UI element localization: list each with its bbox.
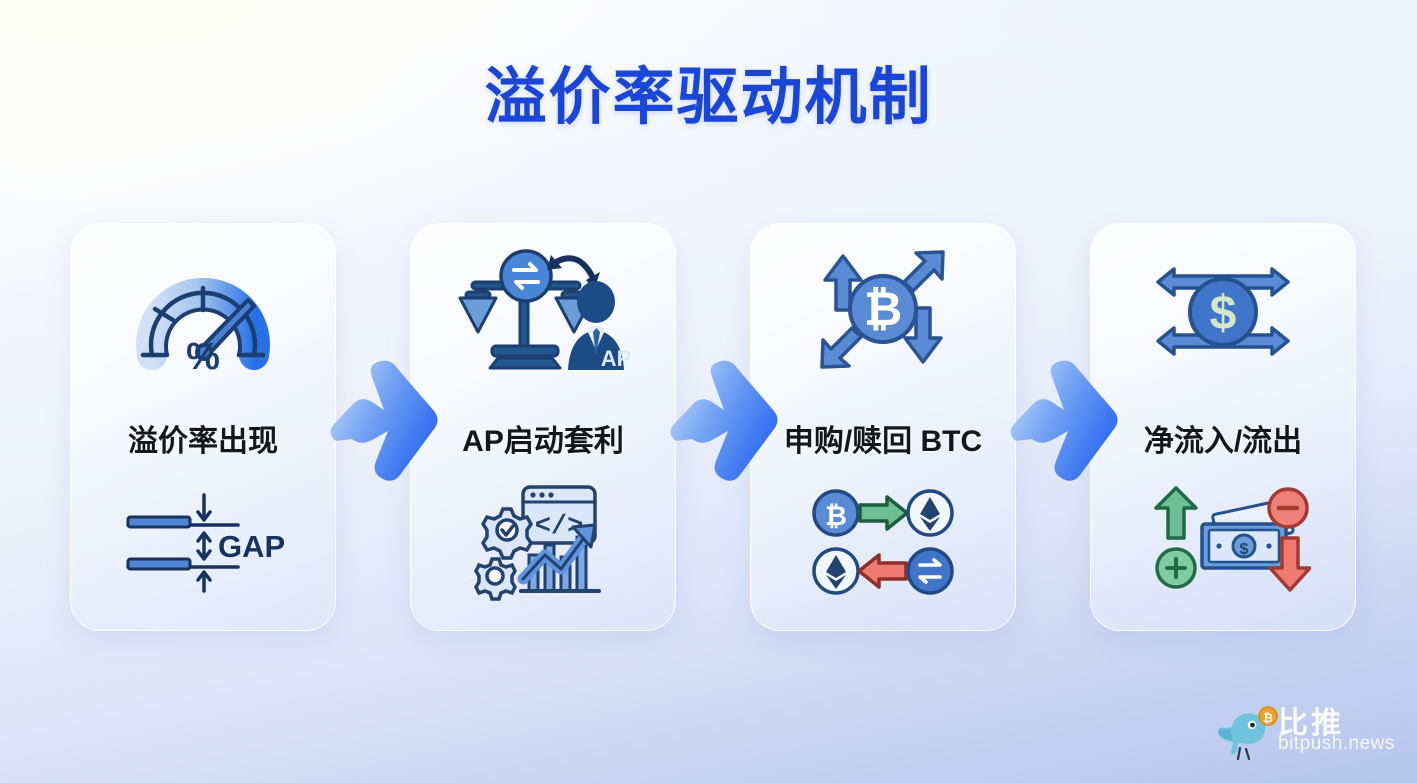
balance-scales-arbitrage-agent-icon: AP — [411, 246, 675, 376]
svg-text:$: $ — [1239, 541, 1248, 558]
flow-step-card-2[interactable]: AP AP启动套利 </> — [410, 223, 676, 631]
flow-step-label-3: 申购/赎回 BTC — [751, 416, 1015, 460]
bitpush-bird-logo: ₿ — [1216, 704, 1280, 762]
flow-step-label-1: 溢价率出现 — [71, 416, 335, 460]
dollar-symbol: $ — [1210, 287, 1237, 340]
dollar-bidirectional-flow-icon: $ — [1091, 246, 1355, 376]
btc-eth-swap-exchange-icon: ₿ — [751, 482, 1015, 602]
premium-gauge-percent-icon: % — [71, 246, 335, 376]
flow-arrow-3 — [1002, 355, 1122, 485]
flow-arrow-2 — [662, 355, 782, 485]
page-title: 溢价率驱动机制 — [0, 46, 1417, 136]
gears-code-chart-automation-icon: </> — [411, 482, 675, 602]
cash-inflow-outflow-icon: $ — [1091, 482, 1355, 602]
flow-step-card-4[interactable]: $ 净流入/流出 $ — [1090, 223, 1356, 631]
bitcoin-four-way-arrows-icon: ₿ — [751, 246, 1015, 376]
flow-arrow-1 — [322, 355, 442, 485]
svg-text:%: % — [186, 336, 220, 374]
flow-step-label-4: 净流入/流出 — [1091, 416, 1355, 460]
gap-label: GAP — [218, 529, 285, 564]
flow-step-label-2: AP启动套利 — [411, 416, 675, 460]
background-streak — [30, 168, 190, 173]
svg-text:₿: ₿ — [825, 501, 847, 531]
watermark: ₿ 比推 bitpush.news — [1216, 700, 1406, 766]
bitcoin-symbol: ₿ — [864, 282, 902, 335]
flow-step-card-3[interactable]: ₿ 申购/赎回 BTC ₿ — [750, 223, 1016, 631]
ap-badge-label: AP — [601, 346, 632, 371]
svg-text:₿: ₿ — [1263, 711, 1273, 725]
price-gap-diagram-icon: GAP — [71, 482, 335, 602]
flow-step-card-1[interactable]: % 溢价率出现 — [70, 223, 336, 631]
watermark-url: bitpush.news — [1278, 733, 1395, 755]
infographic-canvas: 溢价率驱动机制 — [0, 0, 1417, 783]
